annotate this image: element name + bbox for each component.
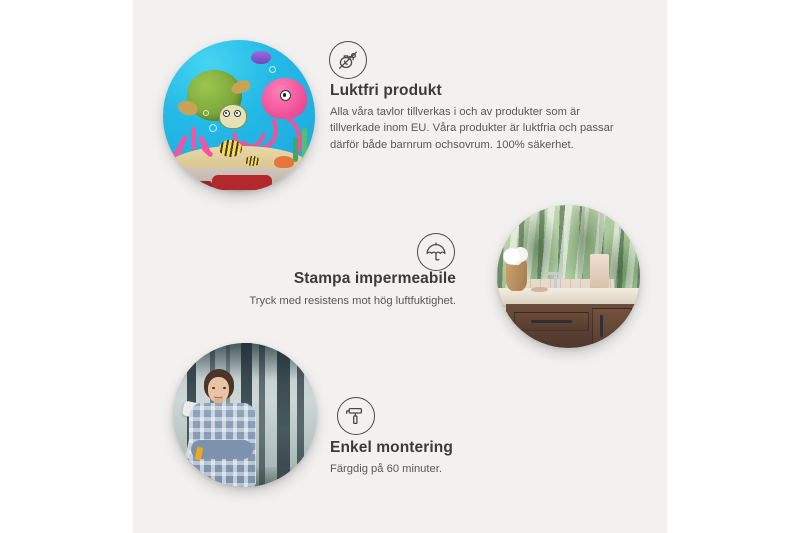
woman-paint-roller-forest-mural-photo	[173, 343, 317, 487]
underwater-cartoon-mural-photo	[163, 40, 315, 192]
bubble-icon	[203, 110, 209, 116]
tree-trunk	[277, 343, 290, 487]
towel	[590, 254, 609, 288]
feature-heading-waterproof: Stampa impermeabile	[0, 270, 456, 288]
faucet	[554, 272, 557, 288]
paint-roller-icon	[337, 397, 375, 435]
feature-body-easy-mounting: Färgdig på 60 minuter.	[330, 461, 610, 477]
turtle-eye	[234, 110, 241, 117]
striped-fish	[219, 140, 242, 157]
feature-body-waterproof: Tryck med resistens mot hög luftfuktighe…	[0, 293, 456, 309]
tree-trunk	[259, 343, 265, 487]
feature-heading-odorless: Luktfri produkt	[330, 82, 442, 100]
pink-coral	[172, 127, 213, 167]
seaweed	[293, 137, 298, 161]
feature-heading-easy-mounting: Enkel montering	[330, 439, 453, 457]
eye	[223, 387, 226, 389]
cabinet-door	[592, 308, 632, 344]
turtle-eye	[223, 110, 230, 117]
feature-body-odorless: Alla våra tavlor tillverkas i och av pro…	[330, 104, 620, 153]
umbrella-icon	[417, 233, 455, 271]
vanity-cabinet	[506, 304, 640, 348]
crab	[274, 156, 294, 168]
purple-fish	[251, 51, 271, 65]
door-handle	[600, 315, 603, 337]
tree-trunk	[297, 343, 304, 487]
no-smell-icon	[329, 41, 367, 79]
product-feature-infographic: Luktfri produkt Alla våra tavlor tillver…	[0, 0, 800, 533]
eye	[212, 387, 215, 389]
drawer-handle	[531, 320, 572, 323]
room-interior-strip	[163, 168, 315, 192]
octopus-eye	[280, 90, 291, 101]
flowers	[501, 246, 531, 265]
cabinet-drawer	[514, 312, 589, 332]
woman-figure	[185, 369, 260, 487]
bathroom-leaf-wallpaper-photo	[497, 205, 640, 348]
seaweed	[302, 128, 307, 161]
